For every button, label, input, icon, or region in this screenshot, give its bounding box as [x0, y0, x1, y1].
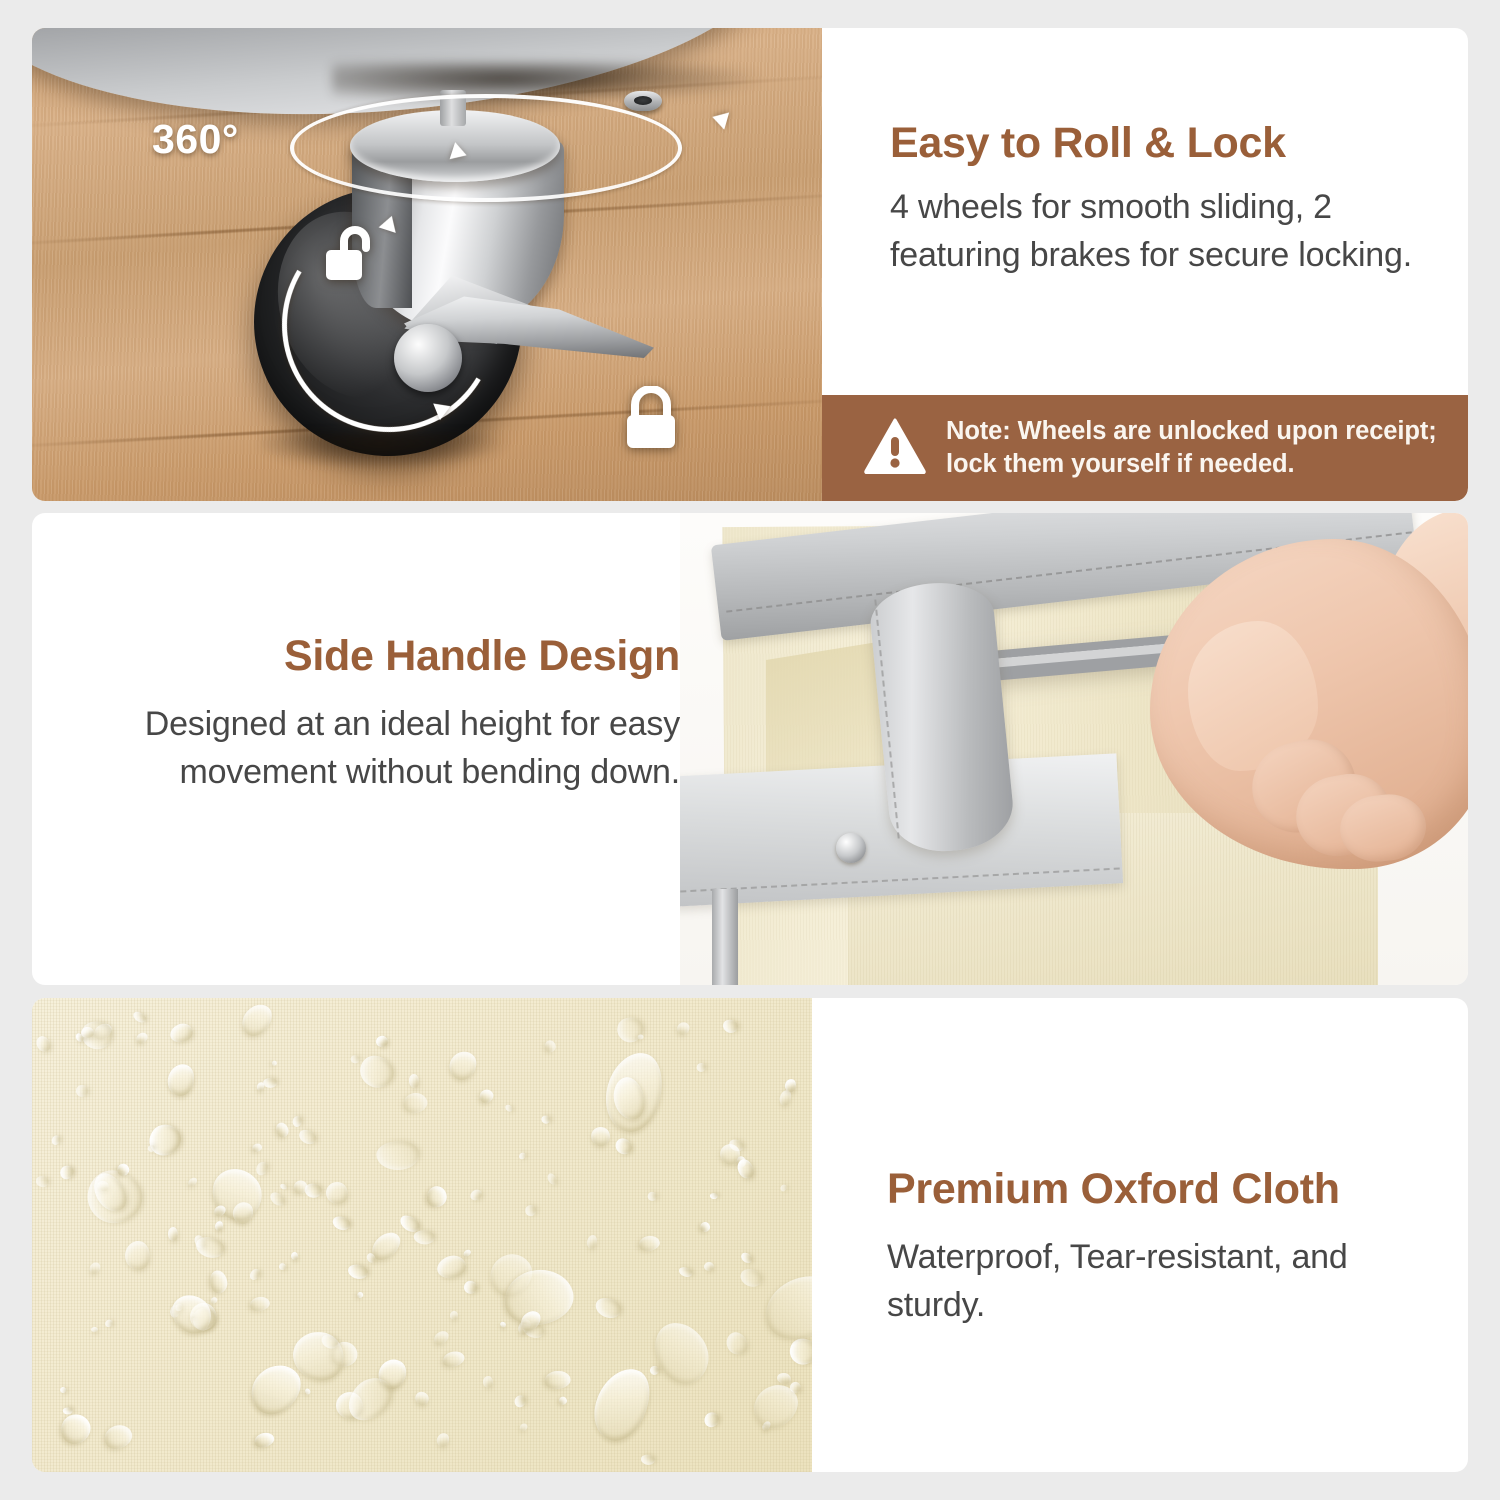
water-droplet [704, 1261, 716, 1272]
water-droplet [441, 1350, 466, 1370]
water-droplet [412, 1390, 431, 1409]
water-droplet [353, 1049, 398, 1094]
wheel-floor-shadow [260, 432, 510, 470]
water-droplet [739, 1251, 754, 1265]
water-droplet [468, 1187, 483, 1202]
water-droplet [646, 1190, 658, 1202]
water-droplet [513, 1394, 526, 1408]
panel-heading: Easy to Roll & Lock [890, 120, 1450, 166]
water-droplet [757, 1266, 812, 1348]
water-droplet [102, 1422, 135, 1452]
product-feature-infographic: 360° Easy to Roll & Lock 4 wheels for sm… [0, 0, 1500, 1500]
water-droplet [63, 1407, 73, 1414]
water-droplet [58, 1163, 76, 1181]
water-droplet [268, 1190, 287, 1209]
water-droplet [546, 1172, 559, 1186]
water-droplet [305, 1388, 312, 1395]
water-droplet [637, 1034, 643, 1039]
water-droplet [165, 1288, 219, 1341]
water-droplet [613, 1135, 635, 1157]
water-droplet [356, 1291, 363, 1298]
water-droplet [34, 1175, 50, 1190]
water-droplet [721, 1018, 740, 1035]
panel-body-text: Designed at an ideal height for easy mov… [90, 701, 680, 796]
water-droplet [143, 1118, 187, 1162]
water-droplet [347, 1262, 370, 1280]
note-text: Note: Wheels are unlocked upon receipt; … [946, 415, 1446, 480]
water-droplet [87, 1260, 102, 1275]
panel-easy-to-roll-and-lock: 360° Easy to Roll & Lock 4 wheels for sm… [32, 28, 1468, 501]
water-droplet [331, 1214, 353, 1233]
water-droplet [450, 1310, 460, 1320]
water-droplet [540, 1115, 551, 1126]
water-droplet [558, 1396, 567, 1406]
water-droplet [518, 1422, 529, 1432]
water-droplet [272, 1061, 277, 1067]
water-droplet [695, 1061, 707, 1073]
water-droplet [251, 1142, 263, 1153]
water-droplet [524, 1203, 537, 1217]
oxford-cloth-waterproof-photo [32, 998, 812, 1472]
oxford-cloth-text-block: Premium Oxford Cloth Waterproof, Tear-re… [887, 1166, 1447, 1330]
water-droplet [252, 1431, 275, 1450]
water-droplet [34, 1034, 53, 1054]
water-droplet [59, 1385, 67, 1393]
water-droplet [434, 1431, 451, 1449]
panel-body-text: Waterproof, Tear-resistant, and sturdy. [887, 1234, 1447, 1329]
side-handle-text-block: Side Handle Design Designed at an ideal … [90, 633, 680, 797]
water-droplet [50, 1134, 61, 1146]
water-droplet [674, 1020, 692, 1038]
water-droplet [640, 1454, 655, 1466]
water-droplet [280, 1183, 289, 1191]
panel-side-handle-design: Side Handle Design Designed at an ideal … [32, 513, 1468, 985]
water-droplet [254, 1160, 270, 1177]
warning-triangle-icon [864, 418, 926, 479]
water-droplet [738, 1267, 765, 1291]
water-droplet [776, 1371, 792, 1385]
water-droplet [583, 1360, 661, 1449]
swivel-rotation-ring-icon [290, 94, 682, 202]
cart-frame-post [712, 889, 738, 985]
water-droplet [297, 1127, 319, 1147]
water-droplet [187, 1176, 199, 1188]
water-droplet [207, 1268, 229, 1294]
water-droplet [236, 999, 278, 1041]
rotation-degrees-label: 360° [152, 116, 239, 163]
water-droplet [638, 1234, 661, 1252]
water-droplet [73, 1082, 90, 1099]
water-droplet [132, 1009, 149, 1025]
water-droplet [209, 1297, 218, 1305]
water-droplet [426, 1186, 446, 1208]
panel-body-text: 4 wheels for smooth sliding, 2 featuring… [890, 184, 1450, 279]
water-droplet [409, 1074, 419, 1088]
water-droplet [482, 1376, 493, 1388]
water-droplet [168, 1020, 196, 1046]
water-droplet [677, 1265, 693, 1278]
water-droplet [124, 1240, 152, 1271]
water-droplet [375, 1034, 390, 1048]
water-droplet [649, 1364, 660, 1375]
water-droplet [413, 1229, 435, 1245]
panel-premium-oxford-cloth: Premium Oxford Cloth Waterproof, Tear-re… [32, 998, 1468, 1472]
water-droplet [477, 1087, 495, 1105]
caster-wheel-photo: 360° [32, 28, 822, 501]
water-droplet [779, 1183, 788, 1192]
water-droplet [710, 1193, 719, 1200]
water-droplet [248, 1267, 262, 1282]
water-droplet [135, 1030, 150, 1045]
water-droplet [274, 1121, 290, 1139]
water-droplet [499, 1321, 507, 1329]
water-droplet [444, 1046, 482, 1085]
unlocked-padlock-icon [322, 224, 380, 295]
water-droplet [462, 1248, 472, 1258]
cart-rivet [836, 833, 866, 863]
water-droplet [350, 1055, 360, 1065]
water-droplet [249, 1296, 271, 1313]
water-droplet [104, 1318, 114, 1328]
water-droplet [723, 1328, 751, 1358]
water-droplet [431, 1328, 451, 1348]
water-droplet [168, 1227, 178, 1241]
water-droplet [292, 1116, 303, 1128]
side-handle-photo [680, 513, 1468, 985]
water-droplet [163, 1061, 198, 1100]
water-droplet [504, 1103, 514, 1113]
roll-lock-text-block: Easy to Roll & Lock 4 wheels for smooth … [890, 120, 1450, 280]
water-droplet [545, 1370, 571, 1389]
water-droplet [326, 1181, 349, 1204]
water-droplet [263, 1077, 277, 1087]
note-banner: Note: Wheels are unlocked upon receipt; … [822, 395, 1468, 501]
water-droplet [699, 1221, 710, 1232]
handle-fabric-sleeve [867, 578, 1017, 857]
water-droplet [291, 1252, 299, 1261]
water-droplet [402, 1091, 428, 1114]
water-droplet [462, 1278, 480, 1296]
panel-heading: Side Handle Design [90, 633, 680, 679]
water-droplet [615, 1015, 646, 1045]
water-droplet [277, 1262, 287, 1272]
water-droplet [518, 1151, 527, 1160]
panel-heading: Premium Oxford Cloth [887, 1166, 1447, 1212]
water-droplet [644, 1312, 720, 1392]
locked-padlock-icon [622, 386, 680, 459]
water-droplet [91, 1327, 98, 1333]
water-droplet [213, 1220, 224, 1232]
water-droplet [56, 1409, 96, 1448]
water-droplet [587, 1123, 614, 1150]
water-droplet [376, 1140, 419, 1170]
water-droplet [592, 1294, 624, 1322]
water-droplet [543, 1040, 557, 1055]
mounting-screw-hole [634, 96, 652, 105]
water-droplet [585, 1234, 598, 1250]
water-droplet [702, 1410, 721, 1429]
